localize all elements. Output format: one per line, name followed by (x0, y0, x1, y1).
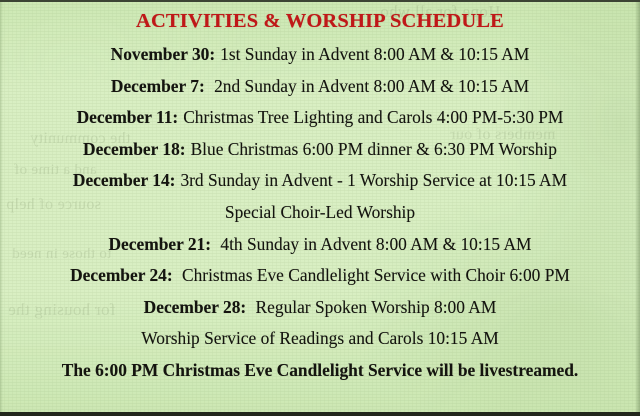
schedule-flyer: Hope for all who the community and a tim… (0, 0, 640, 416)
schedule-line: The 6:00 PM Christmas Eve Candlelight Se… (0, 355, 640, 387)
schedule-detail-text: 4th Sunday in Advent 8:00 AM & 10:15 AM (216, 234, 531, 254)
schedule-detail-text: Blue Christmas 6:00 PM dinner & 6:30 PM … (191, 139, 557, 159)
schedule-line: December 24: Christmas Eve Candlelight S… (0, 260, 640, 292)
flyer-content: ACTIVITIES & WORSHIP SCHEDULE November 3… (0, 0, 640, 416)
schedule-detail-text: 3rd Sunday in Advent - 1 Worship Service… (180, 170, 567, 190)
schedule-detail-text: Christmas Eve Candlelight Service with C… (178, 265, 570, 285)
schedule-line: December 28: Regular Spoken Worship 8:00… (0, 292, 640, 324)
schedule-detail-text: Special Choir-Led Worship (225, 202, 415, 222)
top-border (0, 0, 640, 2)
schedule-date-label: December 28: (144, 297, 247, 317)
schedule-line: Worship Service of Readings and Carols 1… (0, 323, 640, 355)
page-title: ACTIVITIES & WORSHIP SCHEDULE (0, 8, 640, 34)
schedule-detail-text: The 6:00 PM Christmas Eve Candlelight Se… (62, 360, 579, 380)
left-border (0, 0, 3, 416)
schedule-detail-text: 1st Sunday in Advent 8:00 AM & 10:15 AM (220, 44, 529, 64)
schedule-date-label: December 7: (111, 76, 205, 96)
schedule-line: Special Choir-Led Worship (0, 197, 640, 229)
schedule-date-label: December 18: (83, 139, 186, 159)
right-border (635, 0, 640, 416)
schedule-date-label: December 21: (109, 234, 212, 254)
schedule-date-label: November 30: (111, 44, 215, 64)
schedule-detail-text: 2nd Sunday in Advent 8:00 AM & 10:15 AM (210, 76, 529, 96)
schedule-detail-text: Regular Spoken Worship 8:00 AM (251, 297, 496, 317)
schedule-line: December 11:Christmas Tree Lighting and … (0, 102, 640, 134)
schedule-detail-text: Christmas Tree Lighting and Carols 4:00 … (183, 107, 563, 127)
schedule-line: November 30:1st Sunday in Advent 8:00 AM… (0, 39, 640, 71)
schedule-detail-text: Worship Service of Readings and Carols 1… (141, 328, 498, 348)
schedule-line: December 21: 4th Sunday in Advent 8:00 A… (0, 229, 640, 261)
schedule-date-label: December 11: (77, 107, 179, 127)
schedule-date-label: December 24: (70, 265, 173, 285)
schedule-line: December 14:3rd Sunday in Advent - 1 Wor… (0, 165, 640, 197)
schedule-line: December 18:Blue Christmas 6:00 PM dinne… (0, 134, 640, 166)
schedule-list: November 30:1st Sunday in Advent 8:00 AM… (0, 39, 640, 387)
schedule-date-label: December 14: (73, 170, 176, 190)
schedule-line: December 7: 2nd Sunday in Advent 8:00 AM… (0, 71, 640, 103)
bottom-border (0, 412, 640, 416)
